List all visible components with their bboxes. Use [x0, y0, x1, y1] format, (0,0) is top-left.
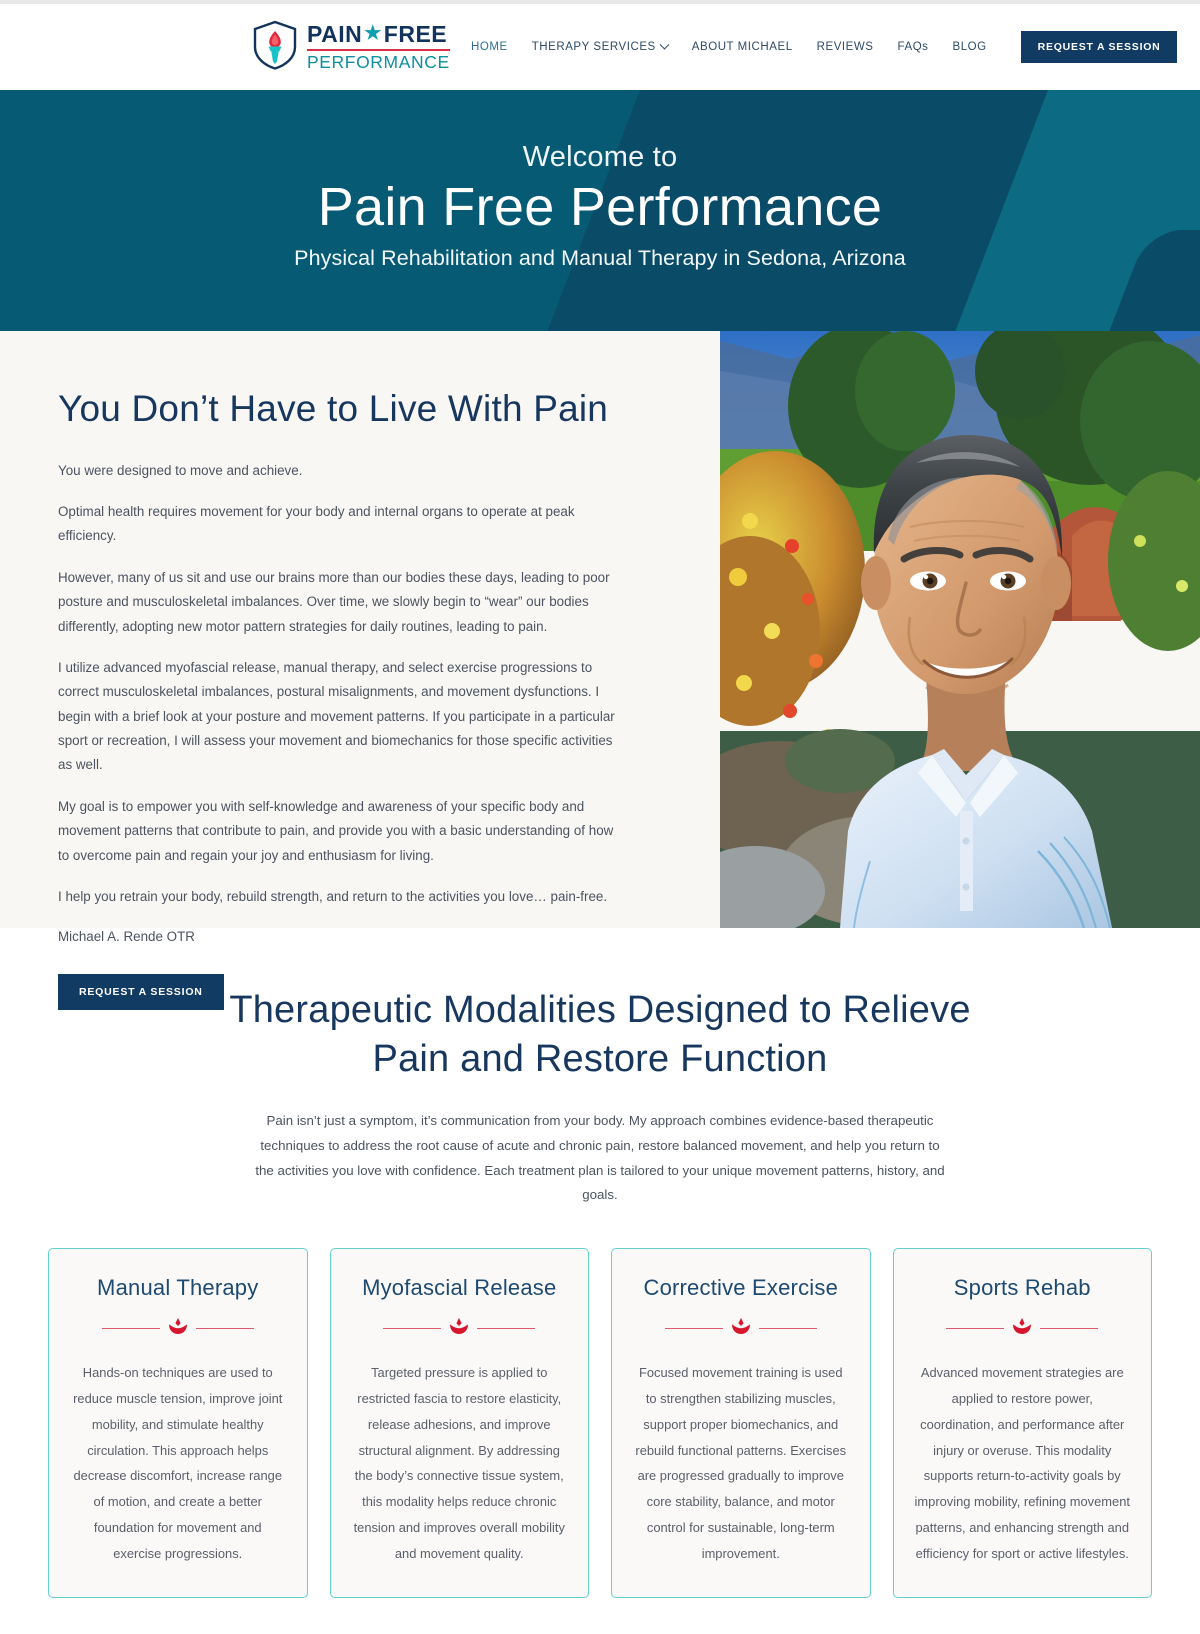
divider-line-left — [102, 1328, 160, 1329]
intro-paragraph-2: Optimal health requires movement for you… — [58, 500, 620, 549]
lotus-icon — [448, 1317, 470, 1340]
site-header: PAIN ★ FREE PERFORMANCE HOME THERAPY SER… — [0, 4, 1200, 90]
site-logo[interactable]: PAIN ★ FREE PERFORMANCE — [252, 20, 427, 75]
divider-line-right — [196, 1328, 254, 1329]
card-title: Manual Therapy — [69, 1275, 287, 1301]
card-title: Myofascial Release — [351, 1275, 569, 1301]
nav-item-therapy-services[interactable]: THERAPY SERVICES — [520, 41, 680, 53]
card-description: Targeted pressure is applied to restrict… — [351, 1360, 569, 1567]
hero-eyebrow: Welcome to — [0, 142, 1200, 174]
page-root: PAIN ★ FREE PERFORMANCE HOME THERAPY SER… — [0, 0, 1200, 1634]
intro-paragraph-1: You were designed to move and achieve. — [58, 459, 620, 483]
intro-section: You Don’t Have to Live With Pain You wer… — [0, 331, 1200, 928]
primary-navigation: HOME THERAPY SERVICES ABOUT MICHAEL REVI… — [459, 31, 1177, 63]
hero-subtitle: Physical Rehabilitation and Manual Thera… — [0, 246, 1200, 271]
shield-flame-icon — [252, 20, 298, 75]
modality-card[interactable]: Myofascial Release Targeted pressure is … — [330, 1248, 590, 1598]
hero-banner: Welcome to Pain Free Performance Physica… — [0, 90, 1200, 331]
card-description: Focused movement training is used to str… — [632, 1360, 850, 1567]
nav-label: REVIEWS — [817, 41, 874, 53]
nav-label: THERAPY SERVICES — [532, 41, 656, 53]
logo-wordmark: PAIN ★ FREE PERFORMANCE — [307, 23, 450, 72]
nav-item-reviews[interactable]: REVIEWS — [805, 41, 886, 53]
card-description: Advanced movement strategies are applied… — [914, 1360, 1132, 1567]
intro-heading: You Don’t Have to Live With Pain — [58, 388, 620, 431]
modality-card[interactable]: Manual Therapy Hands-on techniques are u… — [48, 1248, 308, 1598]
card-title: Corrective Exercise — [632, 1275, 850, 1301]
logo-word-free: FREE — [384, 23, 447, 46]
card-divider — [69, 1317, 287, 1340]
divider-line-right — [1040, 1328, 1098, 1329]
intro-paragraph-4: I utilize advanced myofascial release, m… — [58, 656, 620, 778]
nav-item-faqs[interactable]: FAQs — [886, 41, 941, 53]
logo-underline — [307, 49, 450, 51]
modalities-section: Therapeutic Modalities Designed to Relie… — [0, 928, 1200, 1634]
intro-paragraph-5: My goal is to empower you with self-know… — [58, 795, 620, 868]
modalities-intro-text: Pain isn’t just a symptom, it’s communic… — [250, 1109, 950, 1208]
nav-label: HOME — [471, 41, 508, 53]
intro-paragraph-6: I help you retrain your body, rebuild st… — [58, 885, 620, 909]
lotus-icon — [167, 1317, 189, 1340]
nav-label: ABOUT MICHAEL — [692, 41, 793, 53]
chevron-down-icon — [659, 39, 669, 49]
divider-line-left — [383, 1328, 441, 1329]
nav-item-home[interactable]: HOME — [459, 41, 520, 53]
divider-line-right — [477, 1328, 535, 1329]
logo-word-pain: PAIN — [307, 23, 362, 46]
practitioner-photo — [720, 331, 1200, 928]
card-divider — [914, 1317, 1132, 1340]
lotus-icon — [1011, 1317, 1033, 1340]
divider-line-left — [665, 1328, 723, 1329]
nav-label: FAQs — [898, 41, 929, 53]
intro-signature: Michael A. Rende OTR — [58, 929, 620, 944]
divider-line-right — [759, 1328, 817, 1329]
intro-paragraph-3: However, many of us sit and use our brai… — [58, 566, 620, 639]
lotus-icon — [730, 1317, 752, 1340]
card-title: Sports Rehab — [914, 1275, 1132, 1301]
divider-line-left — [946, 1328, 1004, 1329]
nav-label: BLOG — [953, 41, 987, 53]
card-description: Hands-on techniques are used to reduce m… — [69, 1360, 287, 1567]
card-divider — [351, 1317, 569, 1340]
nav-item-about-michael[interactable]: ABOUT MICHAEL — [680, 41, 805, 53]
nav-item-blog[interactable]: BLOG — [941, 41, 999, 53]
modality-card-grid: Manual Therapy Hands-on techniques are u… — [0, 1208, 1200, 1634]
logo-star-icon: ★ — [364, 24, 382, 43]
intro-request-session-button[interactable]: REQUEST A SESSION — [58, 974, 224, 1010]
header-request-session-button[interactable]: REQUEST A SESSION — [1021, 31, 1178, 63]
hero-title: Pain Free Performance — [0, 176, 1200, 240]
card-divider — [632, 1317, 850, 1340]
modality-card[interactable]: Sports Rehab Advanced movement strategie… — [893, 1248, 1153, 1598]
logo-word-performance: PERFORMANCE — [307, 54, 450, 72]
intro-copy-column: You Don’t Have to Live With Pain You wer… — [0, 331, 620, 1010]
modality-card[interactable]: Corrective Exercise Focused movement tra… — [611, 1248, 871, 1598]
